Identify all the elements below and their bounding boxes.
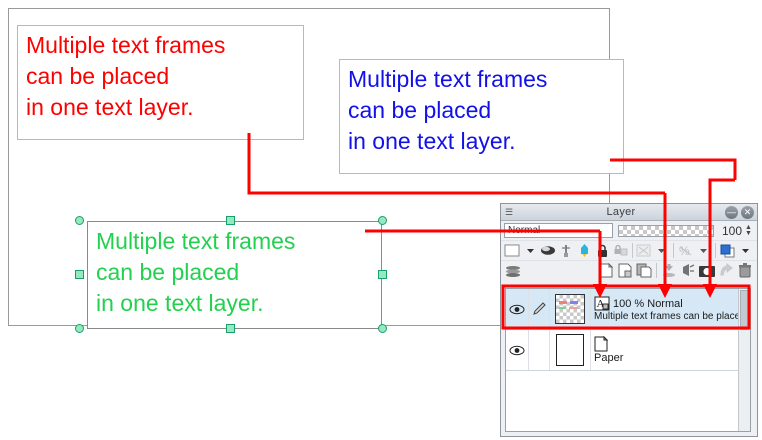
layer-property-icon[interactable] — [679, 262, 697, 279]
lock-transparency-icon[interactable] — [612, 242, 629, 259]
layers-stack-icon[interactable] — [504, 262, 522, 279]
layer-mask-icon[interactable] — [540, 242, 557, 259]
layer-list-item-paper[interactable]: Paper — [506, 330, 750, 371]
paper-thumbnail[interactable] — [550, 330, 591, 370]
blend-mode-select[interactable]: Normal — [504, 223, 613, 238]
red-text-line-3: in one text layer. — [26, 92, 295, 123]
layer-name[interactable]: Multiple text frames can be placed in o — [594, 311, 747, 322]
green-text-line-2: can be placed — [96, 257, 373, 288]
delete-layer-icon[interactable] — [736, 262, 754, 279]
opacity-slider[interactable] — [618, 225, 714, 237]
ruler-icon[interactable] — [558, 242, 575, 259]
mask-dropdown-arrow-icon[interactable] — [695, 242, 712, 259]
dropdown-arrow-icon[interactable] — [522, 242, 539, 259]
paper-edit-placeholder — [529, 330, 550, 370]
new-raster-layer-icon[interactable] — [597, 262, 615, 279]
clip-to-layer-icon[interactable] — [636, 242, 653, 259]
layer-list-scrollbar[interactable] — [738, 289, 750, 431]
layer-color-swatch[interactable] — [504, 242, 521, 259]
transfer-icon[interactable] — [717, 262, 735, 279]
toolbar-separator — [632, 243, 633, 258]
merge-down-icon[interactable] — [660, 262, 678, 279]
duplicate-layer-icon[interactable] — [635, 262, 653, 279]
blue-text-line-2: can be placed — [348, 95, 615, 126]
toolbar-separator-4 — [656, 263, 657, 278]
paper-layer-name[interactable]: Paper — [594, 352, 747, 364]
color-dropdown-arrow-icon[interactable] — [737, 242, 754, 259]
close-icon[interactable]: ✕ — [741, 206, 754, 219]
selection-handle-bottom-left[interactable] — [75, 324, 84, 333]
green-text-line-3: in one text layer. — [96, 288, 373, 319]
layer-thumbnail[interactable] — [550, 289, 591, 329]
panel-menu-icon[interactable]: ☰ — [501, 207, 517, 218]
layer-panel-titlebar[interactable]: ☰ Layer — ✕ — [501, 204, 757, 221]
selection-handle-bottom-right[interactable] — [378, 324, 387, 333]
layer-panel[interactable]: ☰ Layer — ✕ Normal 100 ▲ ▼ — [500, 203, 758, 437]
new-folder-layer-icon[interactable] — [616, 262, 634, 279]
layer-list-scroll-thumb[interactable] — [740, 290, 749, 330]
toolbar-separator-2 — [673, 243, 674, 258]
green-text-frame[interactable]: Multiple text frames can be placed in on… — [87, 221, 382, 329]
blue-text-line-1: Multiple text frames — [348, 64, 615, 95]
layer-mask-create-icon[interactable] — [698, 262, 716, 279]
white-paper-thumbnail — [556, 334, 584, 366]
pen-icon[interactable] — [576, 242, 593, 259]
transparent-checker-thumbnail — [555, 294, 585, 324]
pen-edit-icon[interactable] — [529, 289, 550, 329]
clip-dropdown-arrow-icon[interactable] — [653, 242, 670, 259]
lock-icon[interactable] — [594, 242, 611, 259]
paper-layer-info: Paper — [591, 330, 750, 370]
paper-meta-row — [594, 336, 747, 352]
layer-tools-row-2 — [501, 260, 757, 280]
eye-icon[interactable] — [506, 330, 529, 370]
paper-icon — [594, 336, 609, 352]
layer-tools-row-1: % — [501, 240, 757, 260]
toolbar-separator-3 — [715, 243, 716, 258]
opacity-stepper[interactable]: ▲ ▼ — [745, 225, 754, 237]
blue-text-line-3: in one text layer. — [348, 126, 615, 157]
layer-panel-title: Layer — [517, 206, 725, 218]
draw-color-swatch[interactable] — [719, 242, 736, 259]
layer-opacity-blend: 100 % Normal — [613, 298, 683, 310]
layer-list[interactable]: A 100 % Normal Multiple text frames can … — [505, 288, 751, 432]
layer-info: A 100 % Normal Multiple text frames can … — [591, 289, 750, 329]
selection-handle-middle-right[interactable] — [378, 270, 387, 279]
layer-meta-row: A 100 % Normal — [594, 296, 747, 311]
selection-handle-top-left[interactable] — [75, 216, 84, 225]
selection-handle-top-center[interactable] — [226, 216, 235, 225]
mask-off-icon[interactable]: % — [677, 242, 694, 259]
red-text-line-1: Multiple text frames — [26, 30, 295, 61]
selection-handle-bottom-center[interactable] — [226, 324, 235, 333]
text-layer-icon: A — [594, 296, 610, 311]
opacity-value[interactable]: 100 — [716, 224, 742, 238]
selection-handle-middle-left[interactable] — [75, 270, 84, 279]
red-text-frame[interactable]: Multiple text frames can be placed in on… — [17, 25, 304, 140]
connector-blue-frame — [610, 160, 735, 180]
eye-icon[interactable] — [506, 289, 529, 329]
red-text-line-2: can be placed — [26, 61, 295, 92]
opacity-down-icon[interactable]: ▼ — [745, 231, 754, 237]
layer-list-item-text[interactable]: A 100 % Normal Multiple text frames can … — [506, 289, 750, 330]
selection-handle-top-right[interactable] — [378, 216, 387, 225]
blue-text-frame[interactable]: Multiple text frames can be placed in on… — [339, 59, 624, 174]
minimize-icon[interactable]: — — [725, 206, 738, 219]
blend-opacity-row: Normal 100 ▲ ▼ — [501, 221, 757, 240]
green-text-line-1: Multiple text frames — [96, 226, 373, 257]
